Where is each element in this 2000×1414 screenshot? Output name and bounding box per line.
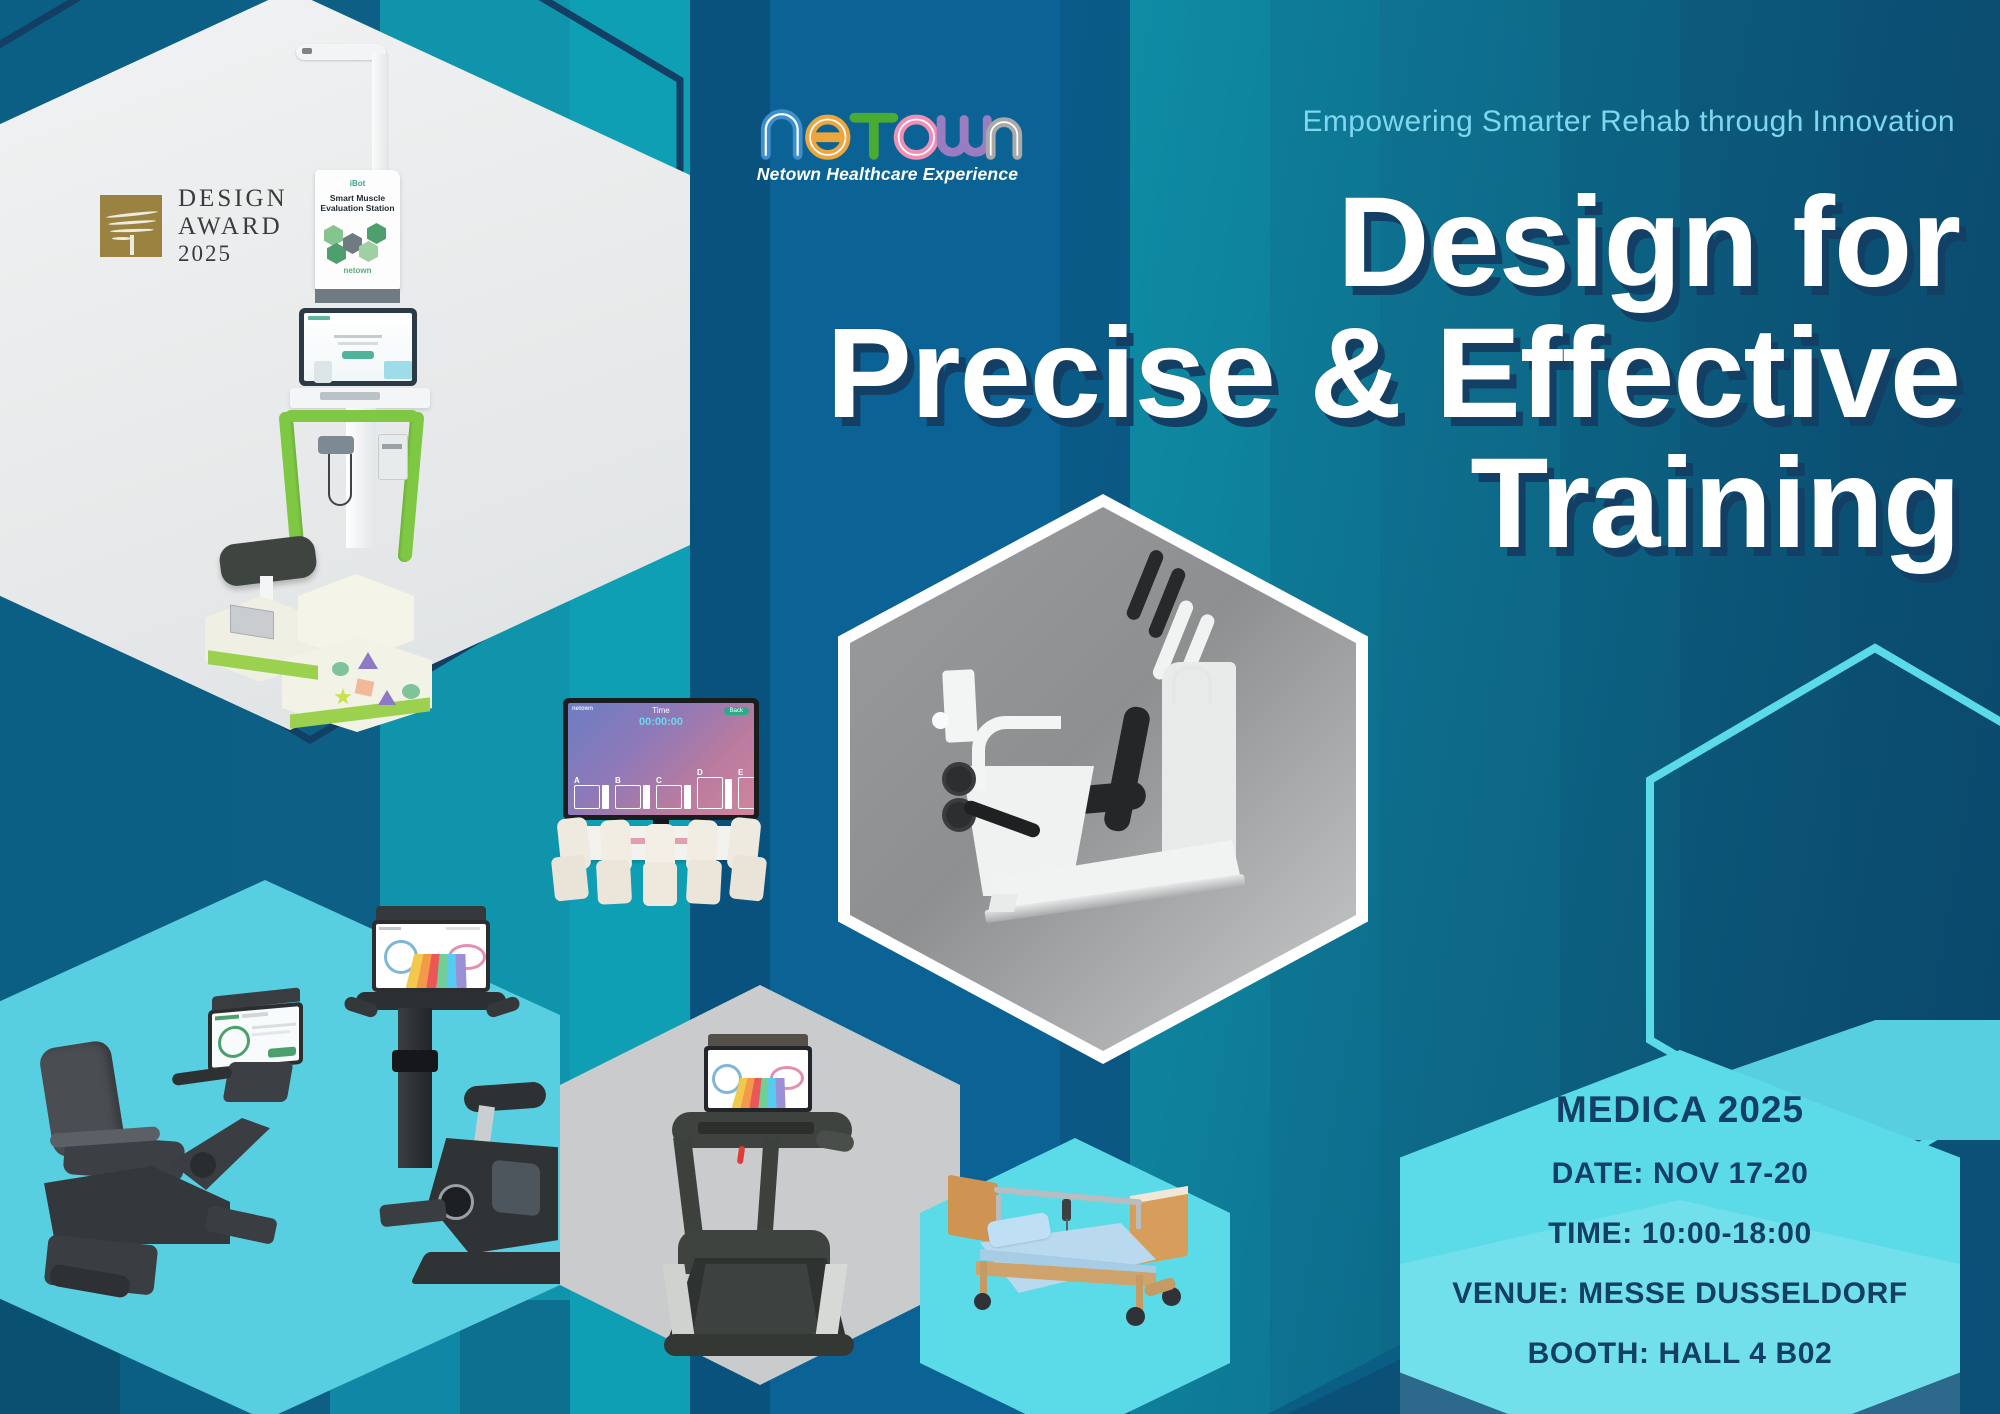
station-signage-base: [315, 289, 400, 303]
treadmill-upright: [757, 1138, 780, 1238]
treadmill-console-tray: [698, 1122, 814, 1134]
muscle-cuff: [686, 859, 722, 905]
upright-seat: [463, 1081, 547, 1113]
treadmill-screen: [704, 1046, 812, 1112]
floor-shape-triangle: [358, 652, 378, 669]
upright-body-highlight: [492, 1159, 540, 1216]
product-muscle-station: netown Time 00:00:00 Back A B: [535, 698, 795, 898]
legpress-seatback: [1102, 705, 1152, 834]
muscle-timer-value: 00:00:00: [568, 716, 754, 728]
product-hospital-bed: [940, 1165, 1220, 1365]
station-brand-mark: netown: [315, 266, 400, 275]
station-cable: [328, 454, 352, 506]
muscle-channel-id: E: [738, 768, 743, 777]
bed-remote-icon: [1062, 1199, 1071, 1221]
floor-shape-triangle: [378, 690, 396, 705]
station-printer-slot: [382, 444, 402, 449]
logo-wordmark-icon: [745, 100, 1030, 162]
recumbent-console-stem: [222, 1062, 293, 1102]
bed-siderail-post: [996, 1195, 1001, 1221]
upright-mast: [398, 1008, 432, 1168]
muscle-channel-id: C: [656, 776, 662, 785]
product-ibot-station: iBot Smart Muscle Evaluation Station net…: [150, 40, 480, 720]
treadmill-safety-key-icon: [737, 1146, 745, 1165]
legpress-support-arm: [972, 716, 1061, 791]
product-treadmill: [620, 1020, 920, 1350]
muscle-channel-id: D: [697, 768, 703, 777]
station-monitor: [299, 308, 417, 386]
station-badge: [367, 223, 386, 244]
event-date: DATE: NOV 17-20: [1400, 1157, 1960, 1191]
legpress-knob-icon: [932, 712, 949, 729]
muscle-monitor: netown Time 00:00:00 Back A B: [563, 698, 759, 820]
event-time: TIME: 10:00-18:00: [1400, 1217, 1960, 1251]
event-venue: VENUE: MESSE DUSSELDORF: [1400, 1277, 1960, 1311]
headline-line-3: Training: [690, 439, 1960, 570]
legpress-foot: [988, 894, 1018, 912]
recumbent-frame-arm: [170, 1118, 270, 1190]
muscle-cuff: [729, 854, 767, 901]
station-handrail-top: [285, 410, 418, 422]
headline-line-2: Precise & Effective: [690, 309, 1960, 440]
netown-logo: Netown Healthcare Experience: [745, 100, 1030, 185]
floor-shape-circle: [332, 662, 349, 676]
header-tagline: Empowering Smarter Rehab through Innovat…: [1302, 105, 1955, 139]
muscle-cuff: [643, 862, 677, 906]
treadmill-belt: [686, 1264, 826, 1340]
station-arm-sensor-icon: [302, 48, 312, 54]
recumbent-crank: [190, 1152, 216, 1178]
floor-shape-circle: [402, 684, 420, 699]
event-booth: BOOTH: HALL 4 B02: [1400, 1337, 1960, 1371]
muscle-back-button[interactable]: Back: [724, 707, 749, 715]
station-badge: [324, 225, 343, 246]
event-details: MEDICA 2025 DATE: NOV 17-20 TIME: 10:00-…: [1400, 1055, 1960, 1414]
station-name: iBot: [315, 179, 400, 188]
poster-canvas: DESIGN AWARD 2025 iBot Smart Muscle Eval…: [0, 0, 2000, 1414]
floor-shape-square: [355, 678, 375, 696]
bed-caster-icon: [1126, 1307, 1145, 1326]
bed-caster-icon: [974, 1293, 991, 1310]
station-signage: iBot Smart Muscle Evaluation Station net…: [315, 170, 400, 290]
muscle-channel-id: A: [574, 776, 580, 785]
station-tray-slot: [320, 392, 380, 400]
product-leg-press: [900, 540, 1320, 1010]
muscle-cuff: [596, 859, 632, 905]
bed-leg: [980, 1261, 987, 1297]
product-upright-bike: [300, 880, 590, 1350]
upright-screen: [372, 920, 490, 992]
muscle-cuff: [551, 854, 589, 901]
muscle-channel-id: B: [615, 776, 621, 785]
legpress-hook-icon: [1172, 666, 1212, 704]
station-cuff: [318, 436, 354, 454]
recumbent-handlebar: [171, 1066, 232, 1086]
legpress-headrest: [942, 669, 978, 743]
legpress-roller: [942, 762, 976, 796]
station-subtitle-2: Evaluation Station: [315, 203, 400, 213]
station-subtitle-1: Smart Muscle: [315, 193, 400, 203]
station-printer: [378, 434, 408, 480]
event-title: MEDICA 2025: [1400, 1089, 1960, 1131]
page-headline: Design for Precise & Effective Training: [690, 178, 1960, 570]
headline-line-1: Design for: [690, 178, 1960, 309]
upright-pedal: [379, 1199, 447, 1228]
treadmill-front-roller: [664, 1334, 854, 1356]
bed-siderail-post: [1136, 1203, 1141, 1229]
upright-mast-clamp: [392, 1050, 438, 1072]
